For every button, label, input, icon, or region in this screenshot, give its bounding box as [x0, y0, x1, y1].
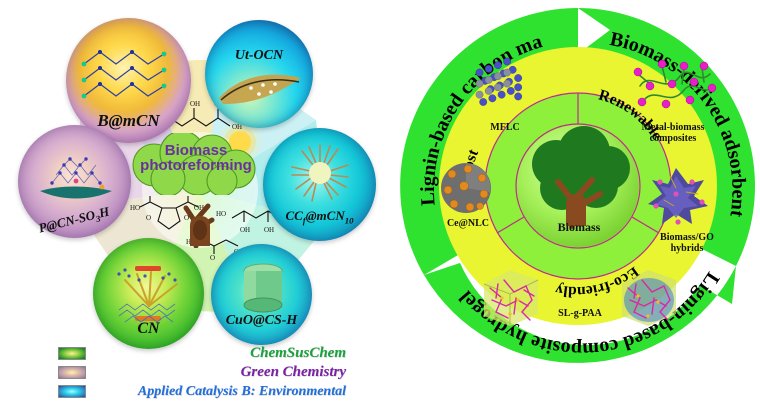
svg-text:OH: OH	[264, 226, 274, 234]
core-label-biomass: Biomass	[536, 220, 622, 235]
right-panel-lignin-materials: Lignin-based carbon material Biomass-der…	[396, 4, 760, 368]
svg-text:O: O	[210, 254, 215, 262]
legend-row-chemsuschem: ChemSusChem	[58, 344, 388, 363]
carbon-cloth-fiber-icon	[285, 142, 355, 204]
item-label-metal-biomass: Metal-biomass composites	[618, 122, 728, 144]
svg-text:O: O	[146, 214, 151, 222]
bubble-utocn[interactable]: Ut-OCN	[205, 20, 313, 128]
legend-label-chemsuschem: ChemSusChem	[86, 345, 388, 362]
layered-nanosheets-icon	[80, 44, 178, 106]
left-panel-photoreforming: OH OH OH OH O HO OH O O HO OH O	[0, 0, 400, 411]
bubble-cn[interactable]: CN	[93, 238, 204, 349]
bubble-pcn[interactable]: P@CN-SO3H	[18, 125, 131, 238]
phosphorus-sheet-icon	[32, 141, 120, 211]
bubble-bmcn[interactable]: B@mCN	[66, 18, 191, 143]
bubble-ccf[interactable]: CCf@mCN10	[263, 128, 376, 241]
bubble-cuo[interactable]: CuO@CS-H	[211, 244, 312, 345]
item-label-sl-g-paa: SL-g-PAA	[544, 308, 616, 319]
legend-row-applcatalb: Applied Catalysis B: Environmental	[58, 382, 388, 401]
center-title-line2: photoreforming	[120, 158, 272, 173]
center-title-line1: Biomass	[120, 143, 272, 158]
svg-text:HO: HO	[130, 204, 140, 212]
bubble-label-ccf: CCf@mCN10	[285, 208, 353, 226]
bubble-label-utocn: Ut-OCN	[235, 48, 283, 64]
legend-row-greenchemistry: Green Chemistry	[58, 363, 388, 382]
bubble-label-cuo: CuO@CS-H	[226, 313, 298, 329]
svg-text:OH: OH	[190, 100, 200, 108]
legend-label-greenchemistry: Green Chemistry	[86, 364, 388, 381]
item-label-mflc: MFLC	[468, 122, 542, 133]
journal-legend: ChemSusChem Green Chemistry Applied Cata…	[58, 344, 388, 401]
legend-swatch-blue	[58, 385, 86, 398]
ultrathin-sheet-icon	[215, 64, 307, 110]
carbon-nitride-icon	[105, 254, 193, 330]
graphical-abstract-figure: OH OH OH OH O HO OH O O HO OH O	[0, 0, 760, 411]
item-label-cenlc: Ce@NLC	[426, 218, 510, 229]
bubble-label-cn: CN	[137, 320, 159, 338]
orange-dotted-sphere-icon	[441, 163, 491, 213]
center-title: Biomass photoreforming	[120, 143, 272, 174]
legend-swatch-green	[58, 347, 86, 360]
legend-label-applcatalb: Applied Catalysis B: Environmental	[86, 384, 388, 400]
item-label-biomass-go: Biomass/GO hybrids	[644, 232, 730, 254]
tree-trunk-icon	[178, 186, 224, 248]
legend-swatch-mauve	[58, 366, 86, 379]
bubble-label-bmcn: B@mCN	[97, 111, 159, 131]
svg-text:OH: OH	[240, 226, 250, 234]
green-cylinder-icon	[241, 260, 285, 316]
